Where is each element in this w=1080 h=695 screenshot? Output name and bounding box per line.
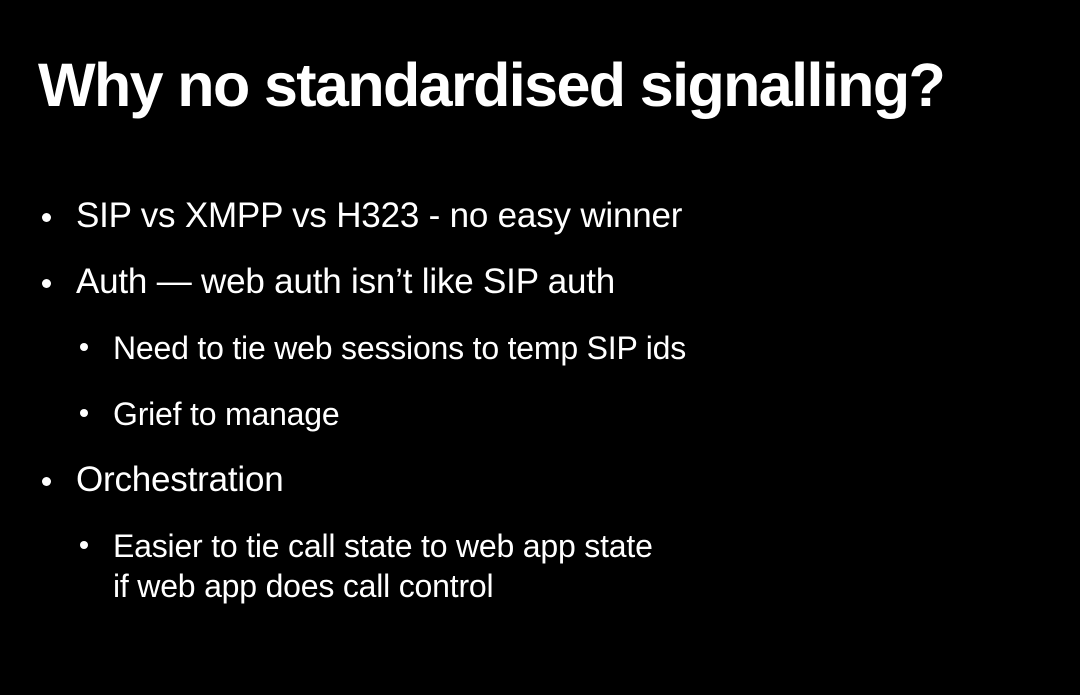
presentation-slide: Why no standardised signalling? SIP vs X…	[0, 0, 1080, 695]
bullet-dot-icon	[80, 343, 88, 351]
bullet-dot-icon	[80, 409, 88, 417]
list-item-label: SIP vs XMPP vs H323 - no easy winner	[76, 196, 1080, 236]
list-item-label: Auth — web auth isn’t like SIP auth	[76, 262, 1080, 302]
sub-list-item-label: Need to tie web sessions to temp SIP ids	[113, 328, 1080, 368]
sub-list-item: Easier to tie call state to web app stat…	[0, 526, 1080, 606]
sub-list-item-label: Easier to tie call state to web app stat…	[113, 526, 1080, 606]
bullet-dot-icon	[80, 541, 88, 549]
page-title: Why no standardised signalling?	[38, 53, 1048, 119]
list-item-label: Orchestration	[76, 460, 1080, 500]
sub-list-item: Grief to manage	[0, 394, 1080, 434]
sub-list-item-label: Grief to manage	[113, 394, 1080, 434]
bullet-dot-icon	[42, 477, 51, 486]
bullet-dot-icon	[42, 279, 51, 288]
sub-list-item: Need to tie web sessions to temp SIP ids	[0, 328, 1080, 368]
list-item: SIP vs XMPP vs H323 - no easy winner	[0, 196, 1080, 236]
bullet-list: SIP vs XMPP vs H323 - no easy winner Aut…	[0, 196, 1080, 632]
list-item: Auth — web auth isn’t like SIP auth	[0, 262, 1080, 302]
bullet-dot-icon	[42, 213, 51, 222]
list-item: Orchestration	[0, 460, 1080, 500]
